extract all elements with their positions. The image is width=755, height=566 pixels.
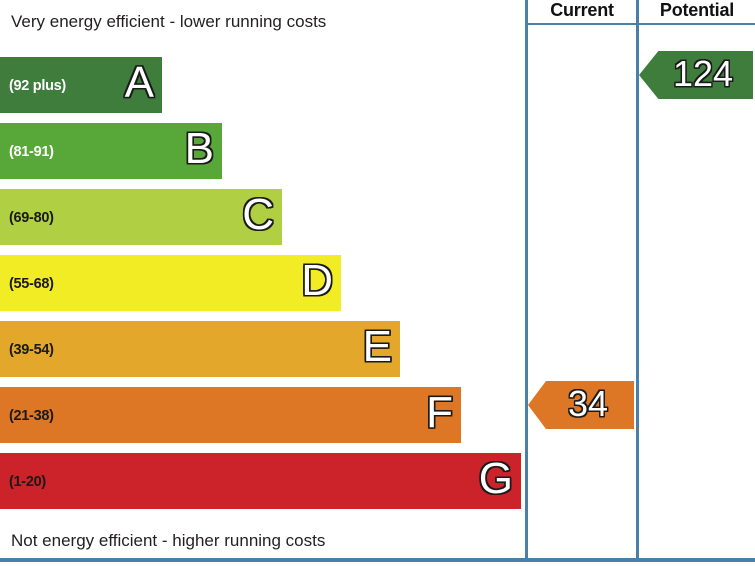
band-range-a: (92 plus)	[9, 79, 66, 94]
energy-efficiency-rating-chart: Current Potential Very energy efficient …	[0, 0, 755, 566]
band-row-b: (81-91) B	[0, 123, 222, 179]
band-range-e: (39-54)	[9, 343, 54, 358]
band-row-g: (1-20) G	[0, 453, 521, 509]
column-header-potential: Potential	[639, 0, 755, 22]
band-range-b: (81-91)	[9, 145, 54, 160]
current-rating-arrow: 34	[528, 381, 634, 429]
band-letter-e: E	[363, 325, 398, 369]
potential-rating-value: 124	[659, 56, 733, 92]
potential-column-divider	[636, 0, 639, 560]
band-row-a: (92 plus) A	[0, 57, 162, 113]
band-letter-d: D	[301, 259, 339, 303]
band-row-d: (55-68) D	[0, 255, 341, 311]
band-range-c: (69-80)	[9, 211, 54, 226]
header-divider	[525, 23, 755, 25]
potential-rating-arrow: 124	[639, 51, 753, 99]
band-letter-a: A	[125, 61, 160, 105]
column-header-current: Current	[528, 0, 636, 22]
band-letter-c: C	[242, 193, 280, 237]
caption-very-efficient: Very energy efficient - lower running co…	[11, 12, 326, 32]
band-letter-g: G	[479, 457, 519, 501]
band-range-f: (21-38)	[9, 409, 54, 424]
band-row-e: (39-54) E	[0, 321, 400, 377]
band-row-f: (21-38) F	[0, 387, 461, 443]
current-rating-value: 34	[554, 386, 608, 422]
band-row-c: (69-80) C	[0, 189, 282, 245]
caption-not-efficient: Not energy efficient - higher running co…	[11, 531, 325, 551]
bottom-divider	[0, 558, 755, 562]
current-column-divider	[525, 0, 528, 560]
band-letter-b: B	[185, 127, 220, 171]
band-range-g: (1-20)	[9, 475, 46, 490]
band-range-d: (55-68)	[9, 277, 54, 292]
band-letter-f: F	[426, 391, 459, 435]
